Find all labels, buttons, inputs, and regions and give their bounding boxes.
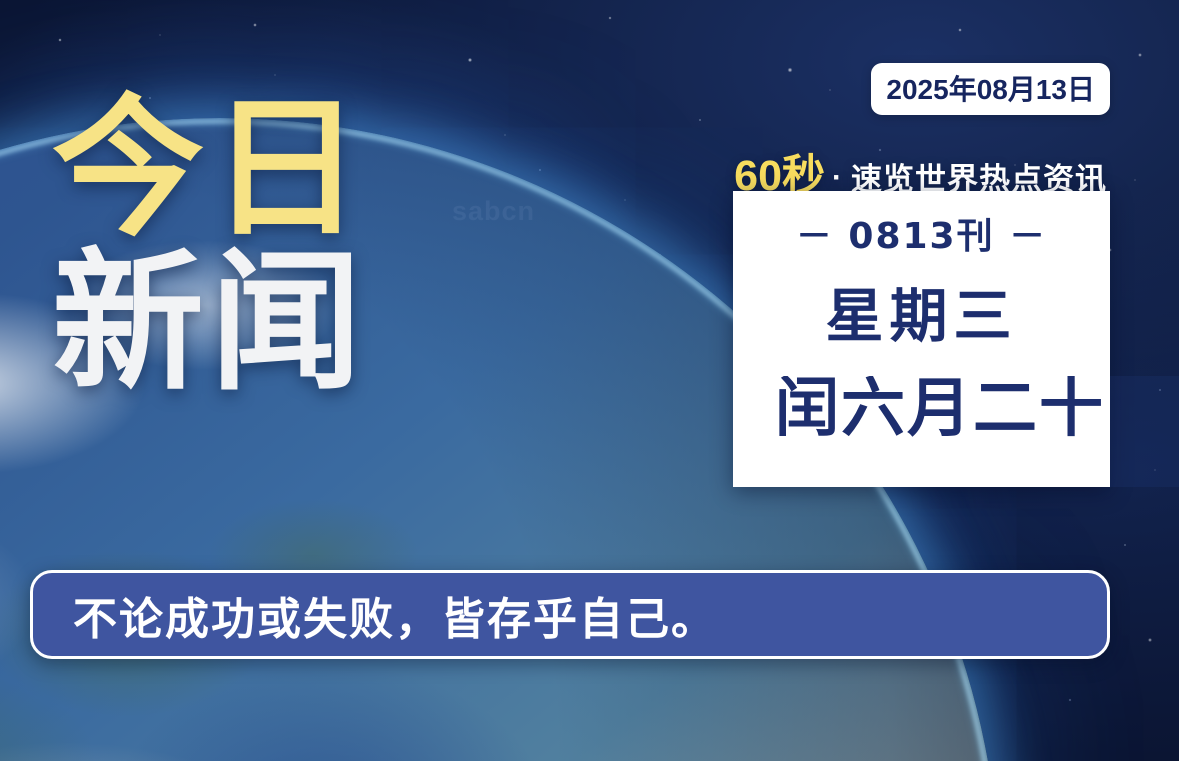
quote-banner: 不论成功或失败，皆存乎自己。 (30, 570, 1110, 659)
page-title-line-xinwen: 新闻 (52, 250, 368, 396)
issue-card-content: － 0813刊 － 星期三 (733, 191, 1110, 487)
page-title: 今日 新闻 (52, 96, 368, 396)
background-watermark: sabcn (452, 196, 535, 227)
weekday-label: 星期三 (825, 269, 1017, 353)
news-poster: sabcn 今日 新闻 2025年08月13日 60秒 · 速览世界热点资讯 －… (0, 0, 1179, 761)
issue-number: － 0813刊 － (796, 207, 1047, 259)
issue-card: － 0813刊 － 星期三 (733, 191, 1110, 487)
quote-text: 不论成功或失败，皆存乎自己。 (33, 583, 717, 647)
tagline-separator-dot: · (832, 161, 842, 195)
page-title-line-jinri: 今日 (52, 96, 368, 242)
date-badge: 2025年08月13日 (871, 63, 1110, 115)
